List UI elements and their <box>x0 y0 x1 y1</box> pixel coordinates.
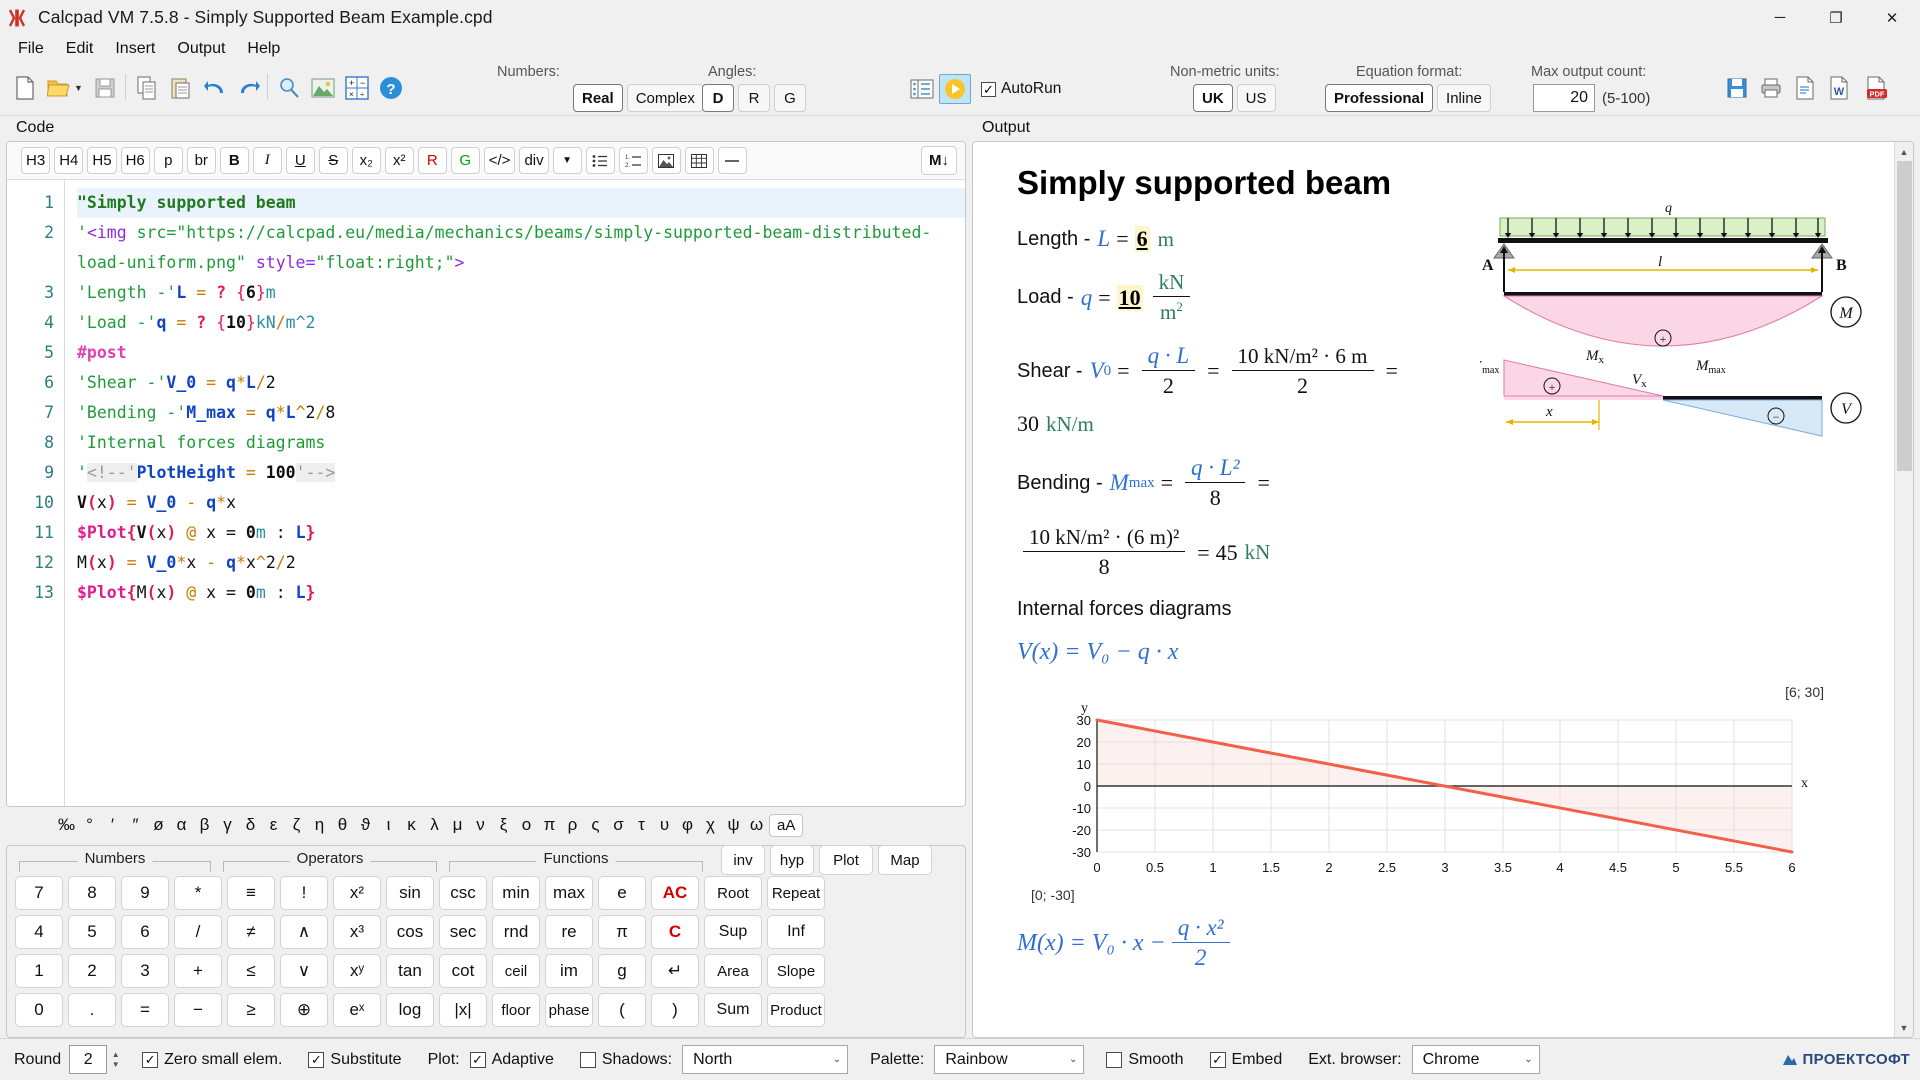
line-number: 11 <box>7 518 54 548</box>
keypad-key-[interactable]: ∨ <box>280 954 328 988</box>
length-value[interactable]: 6 <box>1135 226 1150 252</box>
autorun-checkbox-box[interactable]: ✓ <box>981 82 996 97</box>
eqformat-inline-button[interactable]: Inline <box>1437 84 1491 112</box>
svg-text:?: ? <box>386 81 395 98</box>
support-b-label: B <box>1836 257 1847 274</box>
export-group: W PDF <box>1720 72 1898 104</box>
keypad-row: 123+≤∨xʸtancotceilimg↵AreaSlope <box>15 954 957 988</box>
keypad-key-sin[interactable]: sin <box>386 876 434 910</box>
code-token: <!--' <box>87 463 137 482</box>
round-input[interactable]: 2 <box>69 1045 107 1074</box>
code-token: V_0 <box>147 553 177 572</box>
mode-inv-button[interactable]: inv <box>721 845 765 875</box>
output-document[interactable]: Simply supported beam Length - L = 6 m L… <box>973 142 1894 1037</box>
eqformat-label: Equation format: <box>1356 64 1462 80</box>
keypad-key-7[interactable]: 7 <box>15 876 63 910</box>
chevron-down-icon: ▼ <box>74 83 83 93</box>
code-line[interactable]: M(x) = V_0*x - q*x^2/2 <box>77 548 965 578</box>
keypad-key-x[interactable]: x³ <box>333 915 381 949</box>
keypad-key-tan[interactable]: tan <box>386 954 434 988</box>
symbol-key[interactable]: ς <box>585 814 606 836</box>
code-token: = <box>196 373 226 392</box>
symbol-key[interactable]: α <box>171 814 192 836</box>
code-token: 2 <box>306 403 316 422</box>
code-line[interactable]: "Simply supported beam <box>77 188 965 218</box>
bullet-list-icon[interactable] <box>586 147 615 174</box>
keypad-key-re[interactable]: re <box>545 915 593 949</box>
code-token <box>226 283 236 302</box>
undo-button[interactable] <box>198 72 232 104</box>
symbol-key[interactable]: ω <box>746 814 767 836</box>
shadow-direction-select[interactable]: North ⌄ <box>682 1045 848 1074</box>
bending-variable-sub: max <box>1129 475 1155 492</box>
substitute-box[interactable]: ✓ <box>308 1052 324 1068</box>
maxout-group: 20 (5-100) <box>1533 84 1650 112</box>
mode-hyp-button[interactable]: hyp <box>770 845 814 875</box>
adaptive-checkbox[interactable]: ✓ Adaptive <box>470 1051 554 1069</box>
case-toggle-button[interactable]: aA <box>769 814 803 837</box>
numbers-group-label: Numbers <box>78 850 153 867</box>
minimize-button[interactable]: ─ <box>1752 0 1808 36</box>
keypad-key-[interactable]: / <box>174 915 222 949</box>
code-line[interactable]: 'Shear -'V_0 = q*L/2 <box>77 368 965 398</box>
code-token: 6 <box>246 283 256 302</box>
code-token: PlotHeight <box>137 463 236 482</box>
menu-insert[interactable]: Insert <box>105 38 165 60</box>
autorun-checkbox[interactable]: ✓ AutoRun <box>981 80 1061 98</box>
insert-image-icon[interactable] <box>652 147 681 174</box>
keypad-key-cot[interactable]: cot <box>439 954 487 988</box>
code-token: q <box>226 553 236 572</box>
symbol-key[interactable]: υ <box>654 814 675 836</box>
shear-variable-sub: 0 <box>1104 363 1112 380</box>
format-green-button[interactable]: G <box>451 147 480 174</box>
code-token <box>206 313 216 332</box>
code-line[interactable]: $Plot{M(x) @ x = 0m : L} <box>77 578 965 608</box>
symbol-key[interactable]: μ <box>447 814 468 836</box>
format-strikethrough-button[interactable]: S <box>319 147 348 174</box>
keypad-key-3[interactable]: 3 <box>121 954 169 988</box>
keypad-key-6[interactable]: 6 <box>121 915 169 949</box>
symbol-key[interactable]: ζ <box>286 814 307 836</box>
symbol-key[interactable]: ″ <box>125 814 146 836</box>
print-icon[interactable] <box>1754 72 1788 104</box>
code-token: = <box>236 463 266 482</box>
export-html-icon[interactable] <box>1788 72 1822 104</box>
keypad-key-x[interactable]: x² <box>333 876 381 910</box>
code-token: x <box>226 493 236 512</box>
angles-label: Angles: <box>708 64 756 80</box>
keypad-key-[interactable]: ≡ <box>227 876 275 910</box>
keypad-key-[interactable]: ( <box>598 993 646 1027</box>
line-number: 1 <box>7 188 54 218</box>
code-line[interactable]: V(x) = V_0 - q*x <box>77 488 965 518</box>
code-token: x <box>97 553 107 572</box>
symbol-key[interactable]: λ <box>424 814 445 836</box>
shadows-checkbox[interactable]: Shadows: <box>580 1051 672 1069</box>
embed-label: Embed <box>1232 1051 1283 1069</box>
code-pane-title: Code <box>6 116 966 141</box>
open-folder-button[interactable]: ▼ <box>42 72 88 104</box>
shear-plot-svg: y x <box>1017 700 1847 882</box>
code-token: @ <box>186 523 196 542</box>
format-toolbar: H3 H4 H5 H6 p br B I U S x₂ x² R G </> d… <box>7 142 965 180</box>
file-actions-group: ▼ <box>8 72 122 104</box>
keypad-key-[interactable]: − <box>174 993 222 1027</box>
symbol-key[interactable]: π <box>539 814 560 836</box>
load-value[interactable]: 10 <box>1117 285 1143 311</box>
load-symbol: q <box>1665 201 1672 216</box>
symbol-key[interactable]: ξ <box>493 814 514 836</box>
plot-xtick-55: 5.5 <box>1725 860 1743 875</box>
symbol-key[interactable]: ε <box>263 814 284 836</box>
keypad-key-[interactable]: ! <box>280 876 328 910</box>
zero-small-elem-checkbox[interactable]: ✓ Zero small elem. <box>142 1051 282 1069</box>
code-token: q <box>206 493 216 512</box>
angles-radians-button[interactable]: R <box>738 84 770 112</box>
code-token: / <box>315 403 325 422</box>
ext-browser-select[interactable]: Chrome ⌄ <box>1412 1045 1540 1074</box>
code-line[interactable]: $Plot{V(x) @ x = 0m : L} <box>77 518 965 548</box>
code-token: * <box>236 373 246 392</box>
run-button[interactable] <box>939 74 971 104</box>
code-token: src= <box>127 223 177 242</box>
keypad-key-min[interactable]: min <box>492 876 540 910</box>
redo-button[interactable] <box>232 72 266 104</box>
format-h4-button[interactable]: H4 <box>54 147 83 174</box>
keypad-key-[interactable]: ≤ <box>227 954 275 988</box>
keypad-key-C[interactable]: C <box>651 915 699 949</box>
format-linebreak-button[interactable]: br <box>187 147 216 174</box>
code-line[interactable]: 'Bending -'M_max = q*L^2/8 <box>77 398 965 428</box>
shear-symbolic-fraction: q · L 2 <box>1142 343 1196 399</box>
nonmetric-uk-button[interactable]: UK <box>1193 84 1233 112</box>
nonmetric-us-button[interactable]: US <box>1237 84 1276 112</box>
format-h6-button[interactable]: H6 <box>121 147 150 174</box>
symbol-key[interactable]: σ <box>608 814 629 836</box>
keypad-group-legend: Numbers Operators Functions inv hyp Plot <box>15 850 957 872</box>
embed-checkbox[interactable]: ✓ Embed <box>1210 1051 1283 1069</box>
maximize-button[interactable]: ❐ <box>1808 0 1864 36</box>
embed-box[interactable]: ✓ <box>1210 1052 1226 1068</box>
code-token: M_max <box>186 403 236 422</box>
calcpad-window: Calcpad VM 7.5.8 - Simply Supported Beam… <box>0 0 1920 1080</box>
symbol-key[interactable]: φ <box>677 814 698 836</box>
code-token: ^ <box>296 403 306 422</box>
plot-xtick-35: 3.5 <box>1494 860 1512 875</box>
keypad-key-[interactable]: ≥ <box>227 993 275 1027</box>
symbol-key[interactable]: ο <box>516 814 537 836</box>
keypad-key-Root[interactable]: Root <box>704 876 762 910</box>
smooth-checkbox[interactable]: Smooth <box>1106 1051 1183 1069</box>
keypad-key-im[interactable]: im <box>545 954 593 988</box>
keypad-key-e[interactable]: eˣ <box>333 993 381 1027</box>
keypad-key-x[interactable]: |x| <box>439 993 487 1027</box>
scrollbar-thumb[interactable] <box>1897 161 1912 471</box>
keypad: Numbers Operators Functions inv hyp Plot <box>6 845 966 1038</box>
calculator-icon[interactable]: +−×÷ <box>340 72 374 104</box>
keypad-key-[interactable]: ↵ <box>651 954 699 988</box>
code-token: ) <box>107 553 117 572</box>
max-output-count-input[interactable]: 20 <box>1533 84 1595 112</box>
code-token: V_0 <box>147 493 177 512</box>
code-token: } <box>246 313 256 332</box>
length-variable: L <box>1097 226 1110 252</box>
line-number: 3 <box>7 278 54 308</box>
keypad-key-[interactable]: + <box>174 954 222 988</box>
plot-xtick-25: 2.5 <box>1378 860 1396 875</box>
operators-group-label: Operators <box>290 850 371 867</box>
export-pdf-icon[interactable]: PDF <box>1856 72 1898 104</box>
zero-small-elem-box[interactable]: ✓ <box>142 1052 158 1068</box>
numbers-complex-button[interactable]: Complex <box>627 84 704 112</box>
load-variable: q <box>1081 285 1093 311</box>
shear-force-plot: [6; 30] y x <box>1017 684 1864 903</box>
format-h5-button[interactable]: H5 <box>87 147 116 174</box>
symbol-key[interactable]: θ <box>332 814 353 836</box>
code-line[interactable]: 'Internal forces diagrams <box>77 428 965 458</box>
keypad-key-[interactable]: . <box>68 993 116 1027</box>
ext-browser-value: Chrome <box>1423 1051 1480 1069</box>
output-bending-line: Bending - Mmax = q · L² 8 = <box>1017 455 1864 511</box>
svg-text:PDF: PDF <box>1870 89 1885 98</box>
format-underline-button[interactable]: U <box>286 147 315 174</box>
keypad-key-cos[interactable]: cos <box>386 915 434 949</box>
keypad-key-[interactable]: π <box>598 915 646 949</box>
mode-plot-button[interactable]: Plot <box>819 845 873 875</box>
code-card: H3 H4 H5 H6 p br B I U S x₂ x² R G </> d… <box>6 141 966 807</box>
format-h3-button[interactable]: H3 <box>21 147 50 174</box>
keypad-key-[interactable]: ≠ <box>227 915 275 949</box>
round-stepper[interactable]: ▲▼ <box>107 1045 124 1074</box>
keypad-key-rnd[interactable]: rnd <box>492 915 540 949</box>
menu-edit[interactable]: Edit <box>56 38 104 60</box>
plot-xtick-4: 4 <box>1556 860 1563 875</box>
copy-button[interactable] <box>130 72 164 104</box>
greek-symbol-row: ‰°′″øαβγδεζηθϑικλμνξοπρςστυφχψωaA <box>6 807 966 843</box>
menu-output[interactable]: Output <box>167 38 235 60</box>
load-unit-fraction: kN m2 <box>1153 270 1191 325</box>
numbered-list-icon[interactable]: 1.2. <box>619 147 648 174</box>
format-paragraph-button[interactable]: p <box>154 147 183 174</box>
mode-map-button[interactable]: Map <box>878 845 932 875</box>
format-italic-button[interactable]: I <box>253 147 282 174</box>
keypad-key-Repeat[interactable]: Repeat <box>767 876 825 910</box>
symbol-key[interactable]: δ <box>240 814 261 836</box>
symbol-key[interactable]: τ <box>631 814 652 836</box>
palette-select[interactable]: Rainbow ⌄ <box>934 1045 1084 1074</box>
code-token: ? <box>196 313 206 332</box>
symbol-key[interactable]: χ <box>700 814 721 836</box>
code-token: V_0 <box>166 373 196 392</box>
svg-text:W: W <box>1834 86 1845 98</box>
chevron-down-icon[interactable]: ▼ <box>553 147 582 174</box>
keypad-key-5[interactable]: 5 <box>68 915 116 949</box>
autorun-label: AutoRun <box>1001 80 1061 98</box>
angles-gradians-button[interactable]: G <box>774 84 806 112</box>
keypad-key-4[interactable]: 4 <box>15 915 63 949</box>
svg-text:2.: 2. <box>625 163 630 168</box>
horizontal-rule-icon[interactable] <box>718 147 747 174</box>
code-line[interactable]: 'Length -'L = ? {6}m <box>77 278 965 308</box>
keypad-key-Inf[interactable]: Inf <box>767 915 825 949</box>
keypad-key-max[interactable]: max <box>545 876 593 910</box>
code-token: 100 <box>266 463 296 482</box>
save-disk-icon[interactable] <box>1720 72 1754 104</box>
keypad-key-Slope[interactable]: Slope <box>767 954 825 988</box>
keypad-key-[interactable]: ∧ <box>280 915 328 949</box>
symbol-key[interactable]: κ <box>401 814 422 836</box>
smooth-label: Smooth <box>1128 1051 1183 1069</box>
keypad-key-csc[interactable]: csc <box>439 876 487 910</box>
keypad-key-1[interactable]: 1 <box>15 954 63 988</box>
code-line[interactable]: 'Load -'q = ? {10}kN/m^2 <box>77 308 965 338</box>
new-file-button[interactable] <box>8 72 42 104</box>
code-editor[interactable]: 12345678910111213 "Simply supported beam… <box>7 180 965 806</box>
code-line[interactable]: '<img src="https://calcpad.eu/media/mech… <box>77 218 965 278</box>
menu-help[interactable]: Help <box>237 38 290 60</box>
maxout-label: Max output count: <box>1531 64 1646 80</box>
format-subscript-button[interactable]: x₂ <box>352 147 381 174</box>
smooth-box[interactable] <box>1106 1052 1122 1068</box>
output-vertical-scrollbar[interactable]: ▲ ▼ <box>1894 142 1913 1037</box>
line-number: 8 <box>7 428 54 458</box>
symbol-key[interactable]: ° <box>79 814 100 836</box>
code-token: ) <box>166 583 176 602</box>
symbol-key[interactable]: β <box>194 814 215 836</box>
symbol-key[interactable]: ι <box>378 814 399 836</box>
scroll-up-icon[interactable]: ▲ <box>1895 142 1914 161</box>
keypad-row: 0.=−≥⊕eˣlog|x|floorphase()SumProduct <box>15 993 957 1027</box>
keypad-key-2[interactable]: 2 <box>68 954 116 988</box>
symbol-key[interactable]: ø <box>148 814 169 836</box>
code-text-area[interactable]: "Simply supported beam'<img src="https:/… <box>65 180 965 806</box>
keypad-key-0[interactable]: 0 <box>15 993 63 1027</box>
keypad-key-ceil[interactable]: ceil <box>492 954 540 988</box>
code-line[interactable]: '<!--'PlotHeight = 100'--> <box>77 458 965 488</box>
nonmetric-label: Non-metric units: <box>1170 64 1280 80</box>
code-token: : <box>266 523 296 542</box>
keypad-key-[interactable]: * <box>174 876 222 910</box>
scroll-down-icon[interactable]: ▼ <box>1895 1018 1914 1037</box>
output-settings-icon[interactable] <box>905 73 939 105</box>
symbol-key[interactable]: ‰ <box>56 814 77 836</box>
code-token: M <box>77 553 87 572</box>
plot-range-top-right: [6; 30] <box>1017 684 1864 700</box>
keypad-key-AC[interactable]: AC <box>651 876 699 910</box>
line-number: 7 <box>7 398 54 428</box>
keypad-key-Product[interactable]: Product <box>767 993 825 1027</box>
format-bold-button[interactable]: B <box>220 147 249 174</box>
save-button[interactable] <box>88 72 122 104</box>
find-icon[interactable] <box>272 72 306 104</box>
keypad-key-floor[interactable]: floor <box>492 993 540 1027</box>
substitute-checkbox[interactable]: ✓ Substitute <box>308 1051 401 1069</box>
insert-table-icon[interactable] <box>685 147 714 174</box>
keypad-key-g[interactable]: g <box>598 954 646 988</box>
zero-small-elem-label: Zero small elem. <box>164 1051 282 1069</box>
eqformat-professional-button[interactable]: Professional <box>1325 84 1433 112</box>
symbol-key[interactable]: ′ <box>102 814 123 836</box>
mfun-frac-denominator: 2 <box>1172 943 1230 971</box>
keypad-mode-buttons: inv hyp Plot Map <box>721 845 932 875</box>
keypad-key-9[interactable]: 9 <box>121 876 169 910</box>
vendor-logo: ПРОЕКТСОФТ <box>1781 1051 1910 1068</box>
export-word-icon[interactable]: W <box>1822 72 1856 104</box>
keypad-key-x[interactable]: xʸ <box>333 954 381 988</box>
code-line[interactable]: #post <box>77 338 965 368</box>
bending-num-denominator: 8 <box>1023 552 1185 580</box>
code-token: x <box>156 523 166 542</box>
symbol-key[interactable]: ψ <box>723 814 744 836</box>
keypad-key-log[interactable]: log <box>386 993 434 1027</box>
load-unit-den-base: m <box>1160 300 1176 324</box>
shear-num-denominator: 2 <box>1232 371 1374 399</box>
keypad-key-sec[interactable]: sec <box>439 915 487 949</box>
numbers-real-button[interactable]: Real <box>573 84 623 112</box>
symbol-key[interactable]: η <box>309 814 330 836</box>
help-icon[interactable]: ? <box>374 72 408 104</box>
format-code-button[interactable]: </> <box>484 147 516 174</box>
adaptive-box[interactable]: ✓ <box>470 1052 486 1068</box>
keypad-key-e[interactable]: e <box>598 876 646 910</box>
symbol-key[interactable]: ϑ <box>355 814 376 836</box>
keypad-key-[interactable]: ) <box>651 993 699 1027</box>
code-token: / <box>256 373 266 392</box>
keypad-key-phase[interactable]: phase <box>545 993 593 1027</box>
format-red-button[interactable]: R <box>418 147 447 174</box>
angles-degrees-button[interactable]: D <box>702 84 734 112</box>
operators-group-frame: Operators <box>223 861 437 872</box>
keypad-row: 789*≡!x²sincscminmaxeACRootRepeat <box>15 876 957 910</box>
code-token: q <box>156 313 166 332</box>
insert-image-icon[interactable] <box>306 72 340 104</box>
plot-xtick-15: 1.5 <box>1262 860 1280 875</box>
code-token: 'Length -' <box>77 283 176 302</box>
code-token: L <box>246 373 256 392</box>
symbol-key[interactable]: γ <box>217 814 238 836</box>
keypad-key-Sum[interactable]: Sum <box>704 993 762 1027</box>
shear-plus-sign: + <box>1549 380 1556 394</box>
format-div-button[interactable]: div <box>519 147 548 174</box>
plot-xtick-6: 6 <box>1788 860 1795 875</box>
shadows-box[interactable] <box>580 1052 596 1068</box>
symbol-key[interactable]: ν <box>470 814 491 836</box>
markdown-button[interactable]: M↓ <box>921 146 957 175</box>
code-token: 2 <box>286 553 296 572</box>
close-button[interactable]: ✕ <box>1864 0 1920 36</box>
numbers-label: Numbers: <box>497 64 560 80</box>
code-token: L <box>296 583 306 602</box>
keypad-key-Area[interactable]: Area <box>704 954 762 988</box>
menu-file[interactable]: File <box>8 38 54 60</box>
paste-button[interactable] <box>164 72 198 104</box>
format-superscript-button[interactable]: x² <box>385 147 414 174</box>
keypad-key-[interactable]: = <box>121 993 169 1027</box>
palette-value: Rainbow <box>945 1051 1007 1069</box>
main-toolbar: ▼ <box>0 62 1920 116</box>
keypad-key-8[interactable]: 8 <box>68 876 116 910</box>
shear-minus-sign: − <box>1773 410 1780 424</box>
palette-label: Palette: <box>870 1051 924 1069</box>
beam-diagram-figure: q <box>1480 200 1870 460</box>
code-token: q <box>226 373 236 392</box>
output-pane: Output Simply supported beam Length - L … <box>972 116 1914 1038</box>
keypad-key-[interactable]: ⊕ <box>280 993 328 1027</box>
symbol-key[interactable]: ρ <box>562 814 583 836</box>
code-token: * <box>276 403 286 422</box>
keypad-key-Sup[interactable]: Sup <box>704 915 762 949</box>
